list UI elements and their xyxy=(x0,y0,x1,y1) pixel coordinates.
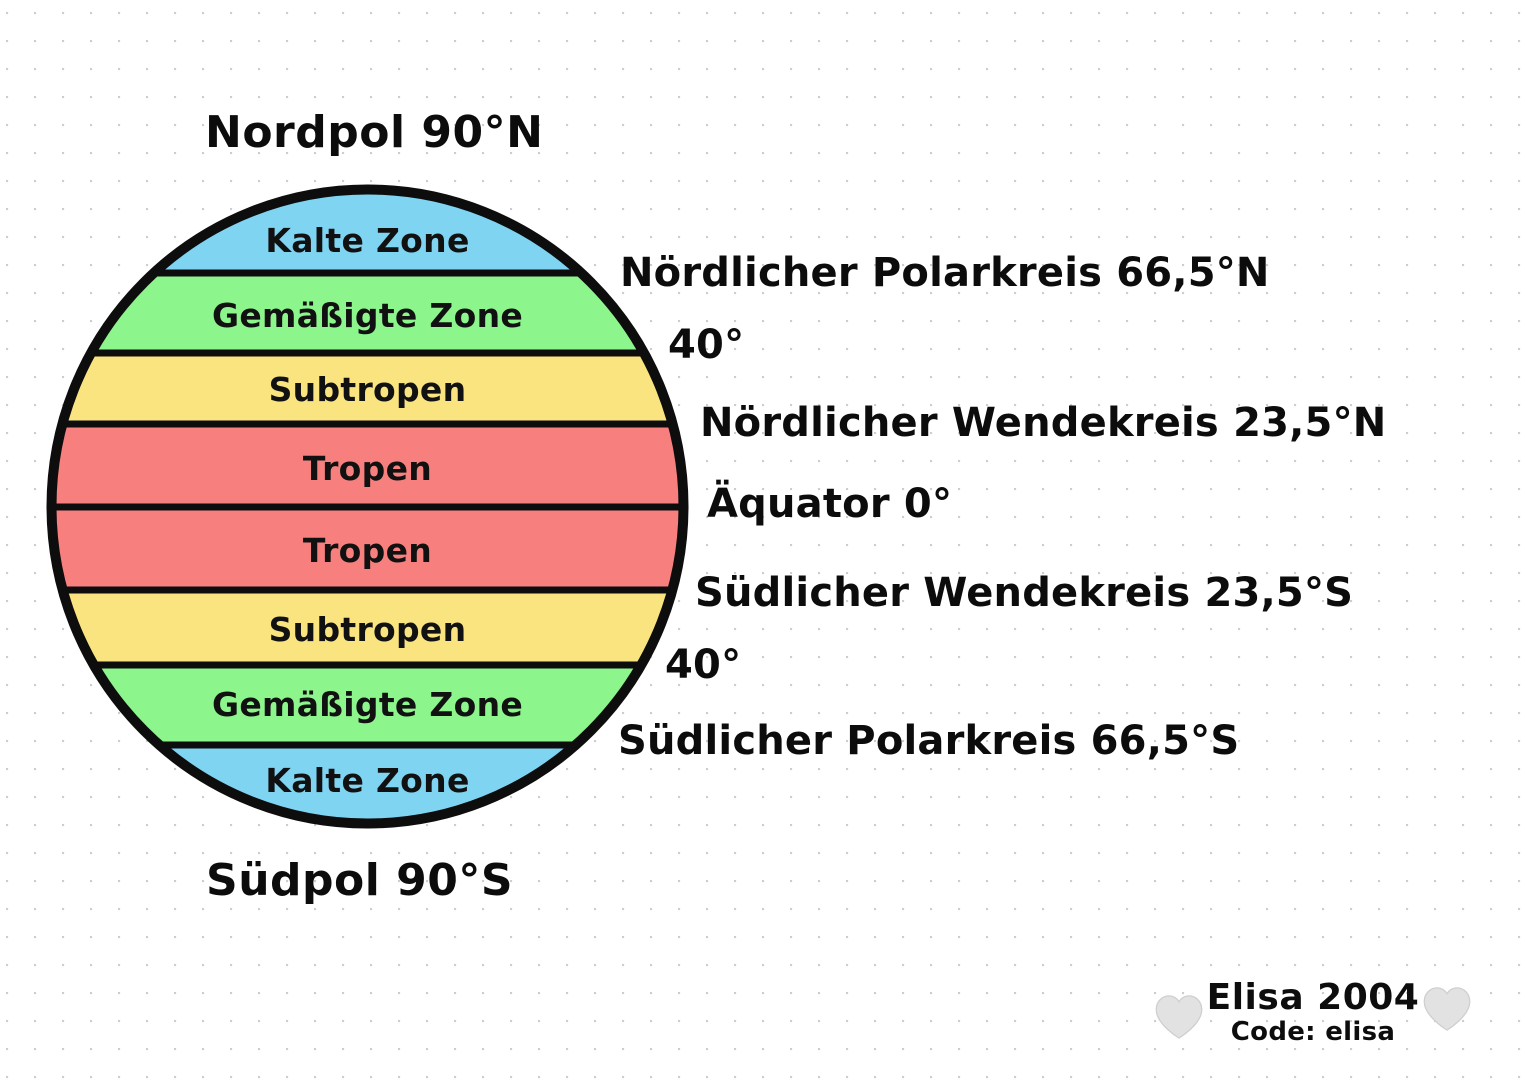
globe-bands xyxy=(35,173,700,845)
south-40-label: 40° xyxy=(665,642,741,688)
equator-label: Äquator 0° xyxy=(707,481,952,527)
band-gemaessigte-sued xyxy=(35,665,700,745)
band-subtropen-sued xyxy=(35,590,700,665)
climate-zones-diagram: Nordpol 90°N xyxy=(0,0,1525,1080)
south-pole-label: Südpol 90°S xyxy=(206,855,513,906)
north-40-label: 40° xyxy=(668,322,744,368)
north-pole-label: Nordpol 90°N xyxy=(205,107,543,158)
antarctic-circle-label: Südlicher Polarkreis 66,5°S xyxy=(618,718,1239,764)
band-subtropen-nord xyxy=(35,353,700,424)
signature-name: Elisa 2004 xyxy=(1207,980,1420,1016)
globe-graphic: Kalte Zone Gemäßigte Zone Subtropen Trop… xyxy=(45,183,690,830)
tropic-capricorn-label: Südlicher Wendekreis 23,5°S xyxy=(695,570,1353,616)
band-tropen-sued xyxy=(35,507,700,590)
band-kalte-zone-sued xyxy=(35,745,700,845)
signature-block: Elisa 2004 Code: elisa xyxy=(1148,962,1478,1066)
band-tropen-nord xyxy=(35,424,700,507)
arctic-circle-label: Nördlicher Polarkreis 66,5°N xyxy=(620,250,1270,296)
signature-code: Code: elisa xyxy=(1231,1016,1395,1049)
heart-icon xyxy=(1153,991,1205,1043)
globe-svg xyxy=(45,183,690,830)
tropic-cancer-label: Nördlicher Wendekreis 23,5°N xyxy=(700,400,1386,446)
heart-icon xyxy=(1421,983,1473,1035)
